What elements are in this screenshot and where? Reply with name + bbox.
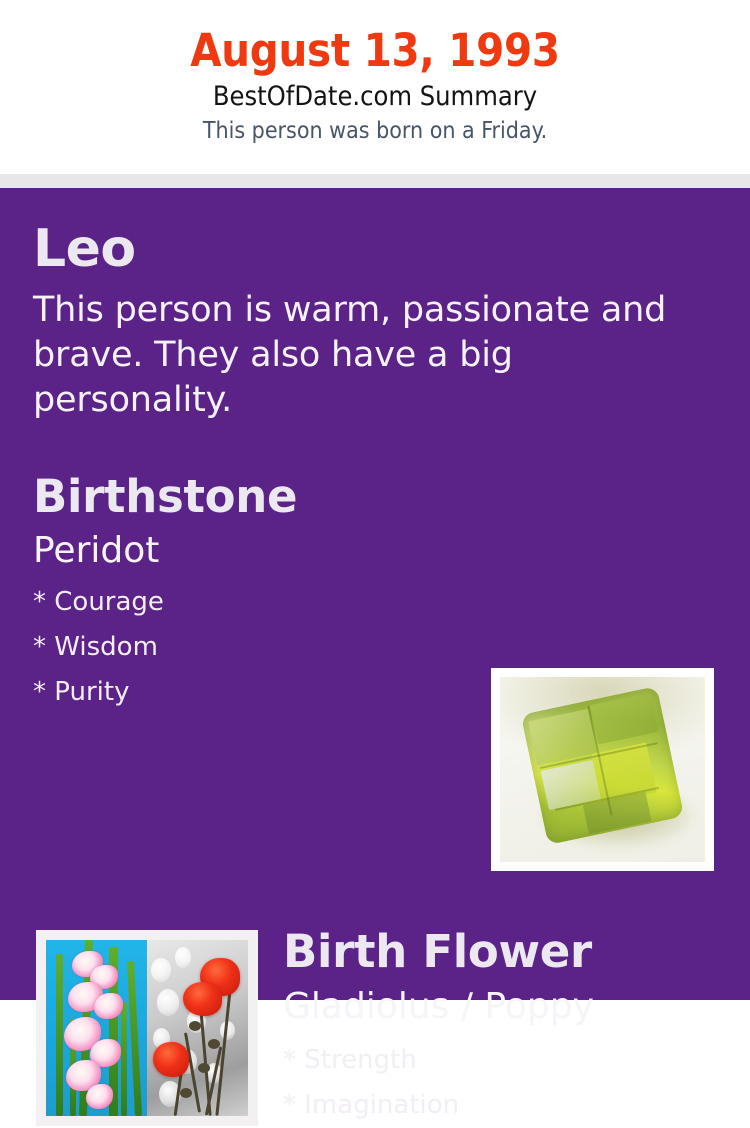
gladiolus-bloom [94,993,122,1019]
bokeh-light [175,947,191,968]
birth-flower-name: Gladiolus / Poppy [283,986,594,1028]
poppy-bud [198,1063,210,1073]
page-title-date: August 13, 1993 [0,22,750,79]
birthstone-name: Peridot [33,530,159,572]
poppy-bloom [153,1042,189,1077]
gem-facet [590,693,658,745]
poppy-bloom [183,982,221,1015]
bokeh-light [151,958,171,983]
birth-flower-image-frame [36,930,258,1126]
list-item: * Wisdom [33,625,453,670]
poppy-bud [208,1039,220,1049]
poppy-photo-half [147,940,248,1116]
bokeh-light [157,989,179,1015]
birthstone-image-frame [491,668,714,871]
gladiolus-and-poppy-image [46,940,248,1116]
birthstone-trait-list: * Courage * Wisdom * Purity [33,580,453,715]
card-header: August 13, 1993 BestOfDate.com Summary T… [0,0,750,174]
gladiolus-photo-half [46,940,147,1116]
zodiac-description: This person is warm, passionate and brav… [33,288,681,423]
stem [127,961,142,1116]
header-divider [0,174,750,188]
day-of-week-note: This person was born on a Friday. [0,115,750,147]
summary-card: August 13, 1993 BestOfDate.com Summary T… [0,0,750,1000]
birthstone-heading: Birthstone [33,471,297,523]
stem [56,954,63,1116]
content-panel: Leo This person is warm, passionate and … [0,188,750,1000]
list-item: * Purity [33,670,453,715]
gladiolus-bloom [86,1084,112,1109]
list-item: * Imagination [283,1083,713,1128]
birth-flower-trait-list: * Strength * Imagination [283,1038,713,1128]
peridot-gemstone-image [500,677,705,862]
list-item: * Courage [33,580,453,625]
poppy-bud [180,1088,192,1098]
list-item: * Strength [283,1038,713,1083]
zodiac-sign-title: Leo [33,221,136,277]
site-name: BestOfDate.com Summary [0,79,750,115]
stem [121,1002,127,1116]
birth-flower-heading: Birth Flower [283,925,592,979]
